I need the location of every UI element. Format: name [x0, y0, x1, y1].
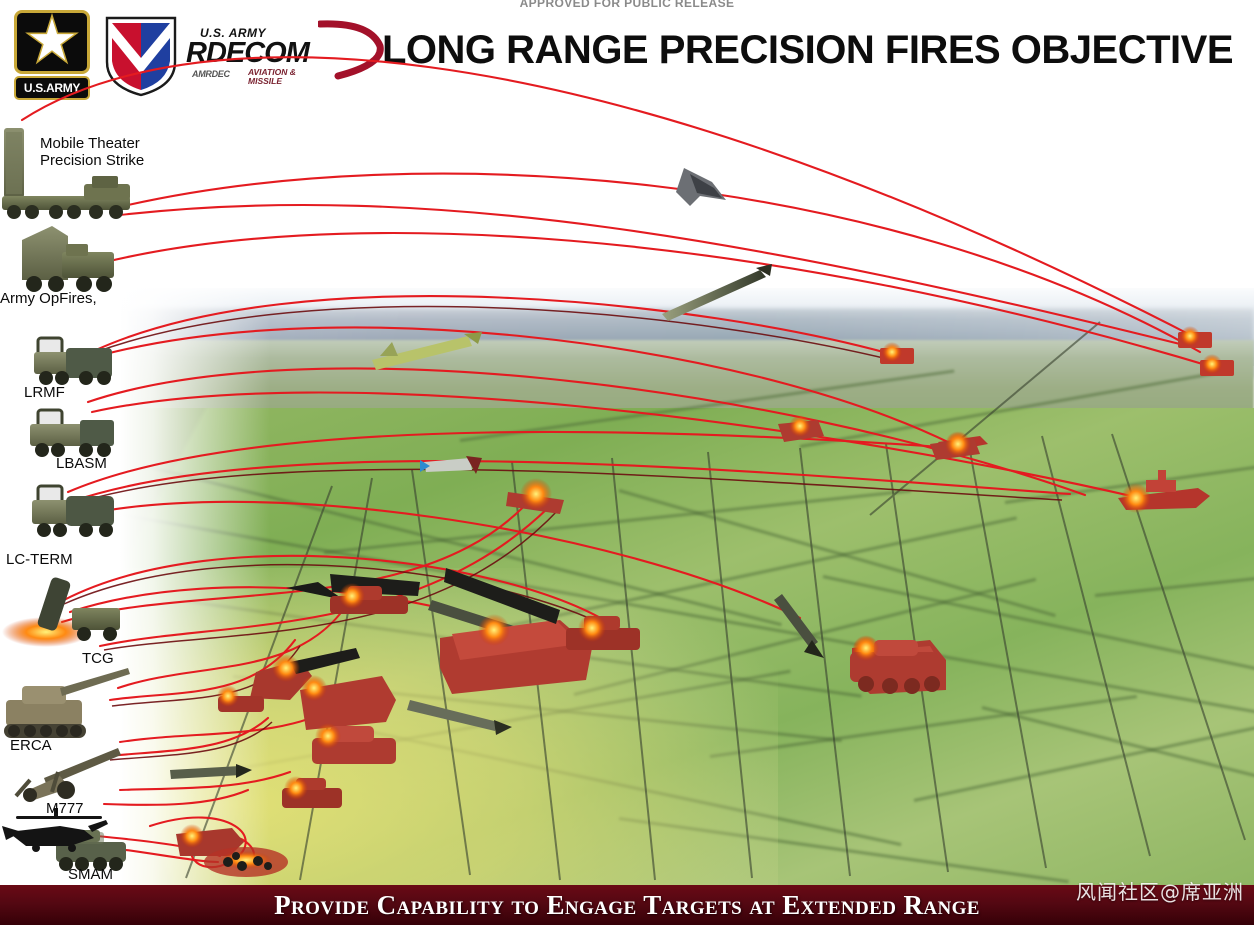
missile-launcher-truck-icon [30, 410, 114, 457]
missile-launcher-truck-icon [34, 338, 112, 385]
area-target-icon [204, 847, 288, 877]
tank-icon [286, 574, 420, 614]
unit-label-smam: SMAM [68, 866, 113, 883]
tank-icon [312, 723, 396, 764]
armored-vehicle-icon [850, 635, 944, 696]
engagement-overlay [0, 0, 1254, 925]
unit-label-lrmf: LRMF [24, 384, 65, 401]
missile-icon [407, 700, 512, 735]
himars-launcher-icon [22, 226, 114, 292]
tank-icon [282, 776, 342, 808]
missile-icon [774, 594, 824, 658]
sam-launcher-icon [880, 342, 914, 364]
unit-label-army-opfires: Army OpFires, [0, 290, 97, 307]
footer-banner: Provide Capability to Engage Targets at … [0, 885, 1254, 925]
radar-icon [300, 675, 396, 730]
footer-tagline: Provide Capability to Engage Targets at … [274, 890, 980, 921]
missile-icon [170, 764, 252, 779]
unit-label-lbasm: LBASM [56, 455, 107, 472]
stealth-aircraft-icon [676, 168, 726, 206]
sam-launcher-icon [1178, 326, 1212, 348]
unit-label-tcg: TCG [82, 650, 114, 667]
glide-bomb-icon [420, 456, 482, 474]
towed-howitzer-icon [16, 748, 121, 802]
self-propelled-howitzer-icon [4, 668, 130, 738]
launching-rocket-icon [2, 576, 120, 647]
slide-root: APPROVED FOR PUBLIC RELEASE U.S.ARMY U.S… [0, 0, 1254, 925]
unit-label-erca: ERCA [10, 737, 52, 754]
command-building-icon [440, 614, 592, 694]
unit-label-m777: M777 [46, 800, 84, 817]
missile-icon [662, 264, 772, 321]
warship-icon [1118, 470, 1210, 513]
sam-launcher-icon [1200, 354, 1234, 376]
unit-label-lc-term: LC-TERM [6, 551, 73, 568]
sam-launcher-icon [778, 415, 824, 442]
fire-trajectories [22, 57, 1216, 867]
missile-launcher-truck-icon [32, 486, 114, 537]
missile-icon [372, 332, 482, 370]
unit-label-mobile-theater-precision-strike: Mobile TheaterPrecision Strike [40, 136, 160, 170]
sam-launcher-icon [930, 431, 980, 460]
